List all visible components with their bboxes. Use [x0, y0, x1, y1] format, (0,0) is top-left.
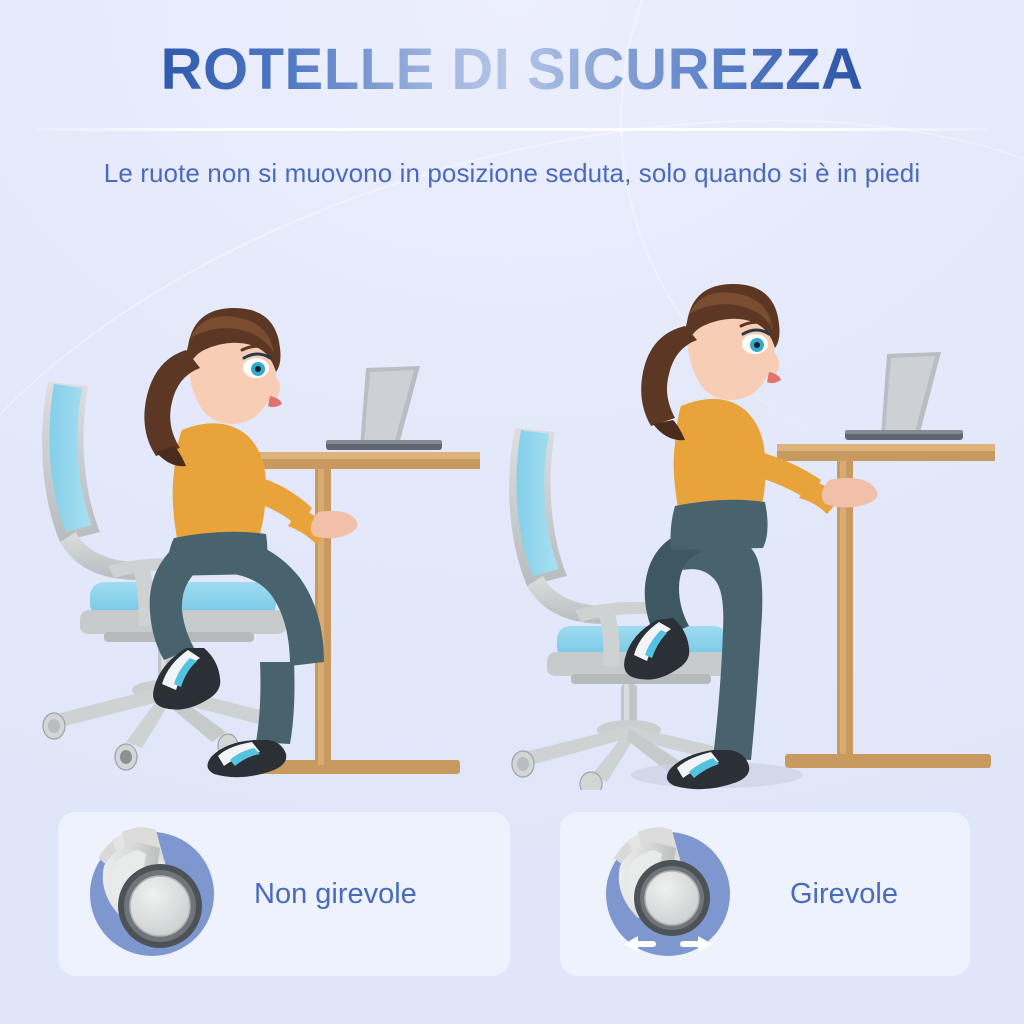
- page-title: ROTELLE DI SICUREZZA: [0, 40, 1024, 101]
- card-swivel[interactable]: Girevole: [560, 812, 970, 976]
- page-subtitle: Le ruote non si muovono in posizione sed…: [0, 158, 1024, 189]
- caster-wheel-icon: [598, 824, 738, 964]
- laptop-seated: [326, 366, 442, 450]
- chair-back-seated: [42, 382, 140, 580]
- card-label-non-swivel: Non girevole: [254, 812, 417, 976]
- illustration-seated: [30, 280, 500, 790]
- card-non-swivel[interactable]: Non girevole: [58, 812, 510, 976]
- chair-back-standing: [509, 428, 607, 624]
- infographic-page: ROTELLE DI SICUREZZA Le ruote non si muo…: [0, 0, 1024, 1024]
- illustration-standing: [505, 280, 995, 790]
- caster-wheel-icon: [82, 824, 222, 964]
- laptop-standing: [845, 352, 963, 440]
- header-divider: [34, 128, 990, 131]
- card-label-swivel: Girevole: [790, 812, 898, 976]
